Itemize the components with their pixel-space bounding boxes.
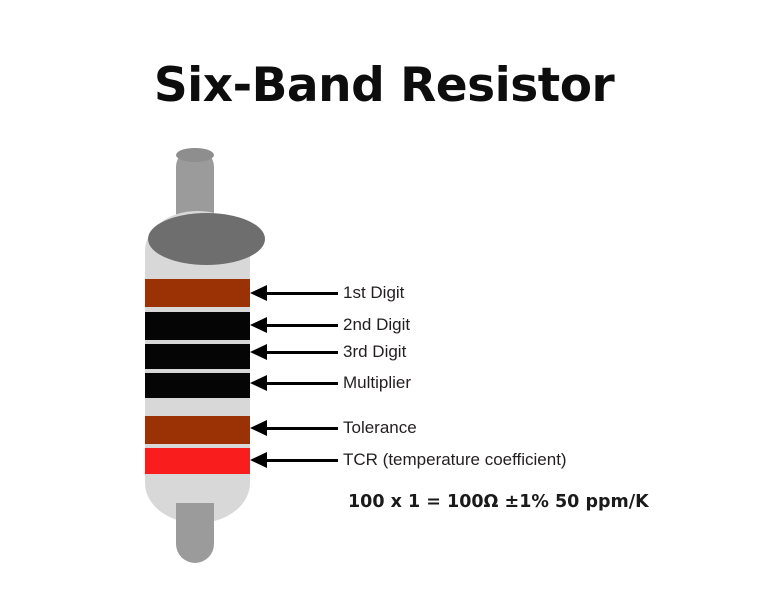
resistor-lead-top-cap: [176, 148, 214, 162]
callout-label: 3rd Digit: [343, 342, 406, 362]
arrow-line: [264, 351, 338, 355]
callout-label: 2nd Digit: [343, 315, 410, 335]
arrow-left-icon: [250, 285, 338, 301]
callout-1st-digit: 1st Digit: [250, 283, 404, 303]
resistance-formula: 100 x 1 = 100Ω ±1% 50 ppm/K: [348, 492, 649, 512]
callout-2nd-digit: 2nd Digit: [250, 315, 410, 335]
arrow-line: [264, 427, 338, 431]
callout-tolerance: Tolerance: [250, 418, 417, 438]
callout-label: TCR (temperature coefficient): [343, 450, 567, 470]
callout-multiplier: Multiplier: [250, 373, 411, 393]
callout-label: 1st Digit: [343, 283, 404, 303]
resistor-lead-bottom: [176, 503, 214, 563]
band-1: [145, 279, 250, 307]
arrow-line: [264, 292, 338, 296]
band-6: [145, 448, 250, 474]
band-3: [145, 344, 250, 369]
callout-label: Tolerance: [343, 418, 417, 438]
arrow-line: [264, 382, 338, 386]
callout-tcr: TCR (temperature coefficient): [250, 450, 567, 470]
resistor-end-cap: [148, 213, 265, 265]
arrow-left-icon: [250, 317, 338, 333]
arrow-left-icon: [250, 344, 338, 360]
arrow-left-icon: [250, 452, 338, 468]
band-5: [145, 416, 250, 444]
arrow-left-icon: [250, 420, 338, 436]
arrow-left-icon: [250, 375, 338, 391]
arrow-line: [264, 459, 338, 463]
callout-3rd-digit: 3rd Digit: [250, 342, 406, 362]
resistor-illustration: [145, 148, 263, 563]
arrow-line: [264, 324, 338, 328]
band-2: [145, 312, 250, 340]
diagram-canvas: Six-Band Resistor 1st Digit2nd Digit3rd …: [0, 0, 768, 614]
band-4: [145, 373, 250, 398]
page-title: Six-Band Resistor: [0, 58, 768, 113]
callout-label: Multiplier: [343, 373, 411, 393]
